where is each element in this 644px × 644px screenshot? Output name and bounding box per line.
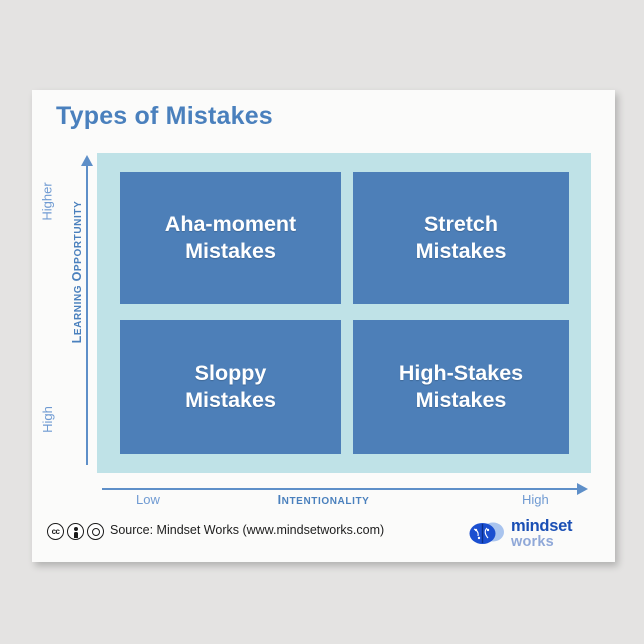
y-axis-top-label: Higher xyxy=(40,182,55,220)
x-axis-line xyxy=(102,488,578,490)
source-attribution-text: Source: Mindset Works (www.mindsetworks.… xyxy=(110,523,384,537)
license-icon-group: cc xyxy=(47,523,104,540)
quadrant-stretch: Stretch Mistakes xyxy=(353,172,569,304)
x-axis-right-label: High xyxy=(522,492,549,507)
y-axis-title-earning: EARNING xyxy=(73,281,84,335)
person-head-shape xyxy=(74,527,78,531)
y-axis-line xyxy=(86,163,88,465)
y-axis-title: LEARNING OPPORTUNITY xyxy=(70,172,84,372)
y-axis-bottom-label: High xyxy=(40,406,55,433)
nd-inner-circle xyxy=(92,528,100,536)
mindset-works-logo: mindset works xyxy=(469,516,591,552)
quadrant-aha-moment-line2: Mistakes xyxy=(165,238,296,265)
logo-line1: mindset xyxy=(511,518,572,535)
footer: cc Source: Mindset Works (www.mindsetwor… xyxy=(42,520,605,560)
y-axis-title-pportunity: PPORTUNITY xyxy=(73,201,84,271)
page-title: Types of Mistakes xyxy=(56,102,273,131)
person-body-shape xyxy=(74,532,78,538)
quadrant-high-stakes: High-Stakes Mistakes xyxy=(353,320,569,454)
creative-commons-icon: cc xyxy=(47,523,64,540)
attribution-icon xyxy=(67,523,84,540)
quadrant-aha-moment-line1: Aha-moment xyxy=(165,211,296,238)
poster-card: Types of Mistakes LEARNING OPPORTUNITY H… xyxy=(32,90,615,562)
quadrant-sloppy-line1: Sloppy xyxy=(185,360,276,387)
logo-wordmark: mindset works xyxy=(511,518,572,550)
quadrant-stretch-line1: Stretch xyxy=(416,211,507,238)
x-axis-title-ntentionality: NTENTIONALITY xyxy=(282,496,370,507)
quadrant-aha-moment: Aha-moment Mistakes xyxy=(120,172,341,304)
quadrant-high-stakes-line2: Mistakes xyxy=(399,387,523,414)
quadrant-sloppy: Sloppy Mistakes xyxy=(120,320,341,454)
y-axis-title-cap-l: L xyxy=(70,335,84,343)
brain-icon xyxy=(469,521,507,547)
no-derivatives-icon xyxy=(87,523,104,540)
quadrant-stretch-line2: Mistakes xyxy=(416,238,507,265)
quadrant-sloppy-line2: Mistakes xyxy=(185,387,276,414)
y-axis-title-cap-o: O xyxy=(70,271,84,281)
quadrant-high-stakes-line1: High-Stakes xyxy=(399,360,523,387)
matrix-panel: Aha-moment Mistakes Stretch Mistakes Slo… xyxy=(97,153,591,473)
logo-line2: works xyxy=(511,535,572,550)
